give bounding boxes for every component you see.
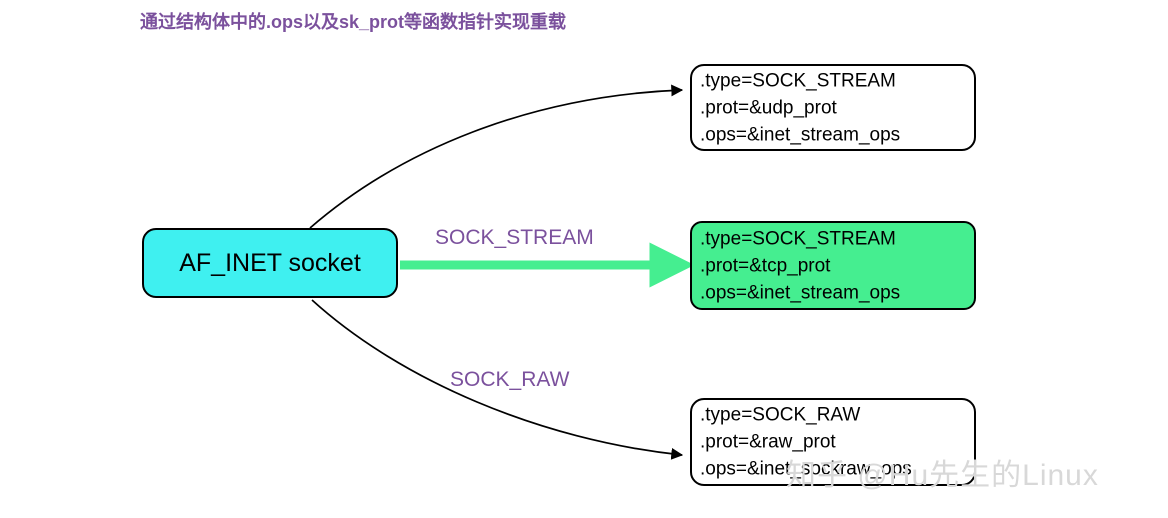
node-tcp-prot[interactable]: .type=SOCK_STREAM .prot=&tcp_prot .ops=&… xyxy=(690,221,976,310)
node-af-inet-socket-label: AF_INET socket xyxy=(144,230,396,296)
node-af-inet-socket[interactable]: AF_INET socket xyxy=(142,228,398,298)
code-line: .ops=&inet_stream_ops xyxy=(700,279,968,306)
code-line: .type=SOCK_RAW xyxy=(700,402,968,429)
code-line: .type=SOCK_STREAM xyxy=(700,225,968,252)
code-line: .ops=&inet_stream_ops xyxy=(700,121,968,148)
node-raw-prot-lines: .type=SOCK_RAW .prot=&raw_prot .ops=&ine… xyxy=(700,402,968,483)
code-line: .ops=&inet_sockraw_ops xyxy=(700,456,968,483)
node-raw-prot[interactable]: .type=SOCK_RAW .prot=&raw_prot .ops=&ine… xyxy=(690,398,976,486)
code-line: .type=SOCK_STREAM xyxy=(700,67,968,94)
code-line: .prot=&udp_prot xyxy=(700,94,968,121)
node-udp-prot-lines: .type=SOCK_STREAM .prot=&udp_prot .ops=&… xyxy=(700,67,968,148)
edge-label-sock-stream: SOCK_STREAM xyxy=(435,226,594,250)
edge-label-sock-raw: SOCK_RAW xyxy=(450,368,569,392)
code-line: .prot=&tcp_prot xyxy=(700,252,968,279)
code-line: .prot=&raw_prot xyxy=(700,429,968,456)
node-udp-prot[interactable]: .type=SOCK_STREAM .prot=&udp_prot .ops=&… xyxy=(690,64,976,151)
edge-to-udp-box xyxy=(310,90,682,228)
diagram-canvas: 通过结构体中的.ops以及sk_prot等函数指针实现重载 AF_INET so… xyxy=(0,0,1168,518)
node-tcp-prot-lines: .type=SOCK_STREAM .prot=&tcp_prot .ops=&… xyxy=(700,225,968,306)
